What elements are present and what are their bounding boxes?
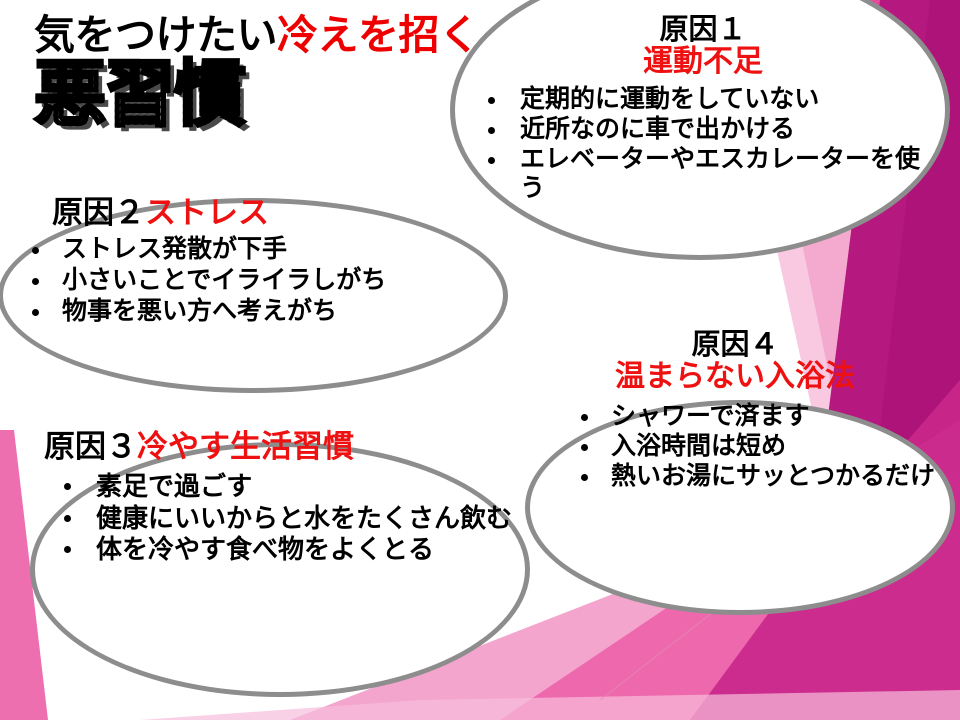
title-line-1: 気をつけたい冷えを招く: [34, 14, 554, 57]
slide-canvas: 気をつけたい冷えを招く 悪習慣 悪習慣 原因１ 運動不足 定期的に運動をしていな…: [0, 0, 960, 720]
cause-4-name: 温まらない入浴法: [515, 361, 955, 393]
bullet-dot-icon: [488, 157, 495, 164]
list-item: 入浴時間は短め: [571, 432, 955, 461]
cause-4-heading: 原因４ 温まらない入浴法: [515, 330, 955, 394]
list-item: エレベーターやエスカレーターを使う: [468, 145, 938, 203]
cause-2-number: 原因２: [52, 195, 145, 230]
list-item: 素足で過ごす: [26, 471, 536, 501]
bullet-text: 熱いお湯にサッとつかるだけ: [611, 462, 955, 491]
cause-2-bullet-list: ストレス発散が下手 小さいことでイライラしがち 物事を悪い方へ考えがち: [10, 235, 510, 326]
cause-card-3: 原因３冷やす生活習慣 素足で過ごす 健康にいいからと水をたくさん飲む 体を冷やす…: [10, 430, 550, 705]
cause-4-content: 原因４ 温まらない入浴法 シャワーで済ます 入浴時間は短め 熱いお湯にサッとつか…: [515, 330, 955, 492]
bullet-text: 近所なのに車で出かける: [520, 115, 938, 144]
bullet-text: 素足で過ごす: [96, 471, 536, 501]
list-item: ストレス発散が下手: [10, 235, 510, 264]
title-keyword-hatched: 悪習慣: [34, 59, 244, 131]
bullet-dot-icon: [64, 546, 71, 553]
cause-3-name: 冷やす生活習慣: [137, 429, 354, 464]
bullet-dot-icon: [581, 414, 588, 421]
title-line1-red: 冷えを招く: [277, 12, 480, 58]
list-item: 健康にいいからと水をたくさん飲む: [26, 503, 536, 533]
bullet-dot-icon: [32, 278, 39, 285]
cause-2-heading: 原因２ストレス: [10, 196, 510, 229]
bullet-dot-icon: [32, 309, 39, 316]
list-item: シャワーで済ます: [571, 402, 955, 431]
cause-card-2: 原因２ストレス ストレス発散が下手 小さいことでイライラしがち 物事を悪い方へ考…: [0, 190, 530, 400]
cause-3-bullet-list: 素足で過ごす 健康にいいからと水をたくさん飲む 体を冷やす食べ物をよくとる: [26, 471, 536, 563]
list-item: 体を冷やす食べ物をよくとる: [26, 534, 536, 564]
cause-4-number: 原因４: [515, 330, 955, 361]
bullet-text: 健康にいいからと水をたくさん飲む: [96, 503, 536, 533]
list-item: 物事を悪い方へ考えがち: [10, 297, 510, 326]
page-title: 気をつけたい冷えを招く 悪習慣 悪習慣: [34, 14, 554, 137]
bullet-dot-icon: [64, 515, 71, 522]
title-keyword: 悪習慣 悪習慣: [34, 59, 554, 137]
bullet-text: 定期的に運動をしていない: [520, 85, 938, 114]
cause-4-bullet-list: シャワーで済ます 入浴時間は短め 熱いお湯にサッとつかるだけ: [515, 402, 955, 491]
bullet-text: 入浴時間は短め: [611, 432, 955, 461]
cause-3-heading: 原因３冷やす生活習慣: [26, 430, 536, 463]
cause-3-number: 原因３: [44, 429, 137, 464]
bullet-dot-icon: [64, 483, 71, 490]
bullet-dot-icon: [32, 247, 39, 254]
cause-card-4: 原因４ 温まらない入浴法 シャワーで済ます 入浴時間は短め 熱いお湯にサッとつか…: [505, 330, 960, 630]
bullet-dot-icon: [581, 444, 588, 451]
list-item: 熱いお湯にサッとつかるだけ: [571, 462, 955, 491]
cause-2-name: ストレス: [145, 195, 269, 230]
bullet-text: エレベーターやエスカレーターを使う: [520, 145, 938, 203]
cause-2-content: 原因２ストレス ストレス発散が下手 小さいことでイライラしがち 物事を悪い方へ考…: [10, 196, 510, 328]
bullet-text: 体を冷やす食べ物をよくとる: [96, 534, 536, 564]
cause-3-content: 原因３冷やす生活習慣 素足で過ごす 健康にいいからと水をたくさん飲む 体を冷やす…: [26, 430, 536, 565]
bullet-text: 小さいことでイライラしがち: [62, 266, 510, 295]
bullet-text: シャワーで済ます: [611, 402, 955, 431]
title-line1-black: 気をつけたい: [34, 12, 277, 58]
bullet-text: ストレス発散が下手: [62, 235, 510, 264]
bullet-dot-icon: [581, 474, 588, 481]
bullet-text: 物事を悪い方へ考えがち: [62, 297, 510, 326]
list-item: 小さいことでイライラしがち: [10, 266, 510, 295]
